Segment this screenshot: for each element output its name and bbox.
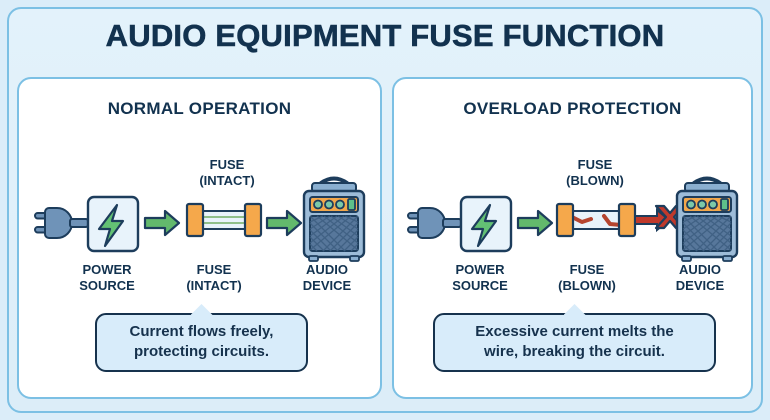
node-label-audio-device-overload: AUDIO DEVICE — [645, 262, 755, 294]
caption-line1: Excessive current melts the — [448, 322, 701, 342]
node-label-power-source-normal: POWER SOURCE — [52, 262, 162, 294]
node-label-line1: POWER — [425, 262, 535, 278]
current-arrow-1-normal — [145, 211, 179, 235]
current-arrow-1-overload — [518, 211, 552, 235]
panel-normal-operation: NORMAL OPERATION FUSE (INTACT) — [17, 77, 382, 399]
caption-line2: wire, breaking the circuit. — [448, 342, 701, 362]
panel-heading-overload: OVERLOAD PROTECTION — [394, 99, 751, 119]
caption-bubble-normal: Current flows freely, protecting circuit… — [95, 313, 308, 372]
fuse-top-caption-line1: FUSE — [167, 157, 287, 173]
node-label-line1: AUDIO — [645, 262, 755, 278]
node-label-audio-device-normal: AUDIO DEVICE — [272, 262, 382, 294]
panel-overload-protection: OVERLOAD PROTECTION FUSE (BLOWN) — [392, 77, 753, 399]
fuse-top-caption-normal: FUSE (INTACT) — [167, 157, 287, 189]
audio-amp-icon — [677, 179, 737, 262]
node-label-line1: FUSE — [532, 262, 642, 278]
audio-amp-icon — [304, 179, 364, 262]
node-label-fuse-overload: FUSE (BLOWN) — [532, 262, 642, 294]
node-label-power-source-overload: POWER SOURCE — [425, 262, 535, 294]
page-title: AUDIO EQUIPMENT FUSE FUNCTION — [0, 18, 770, 54]
power-plug-icon — [35, 208, 88, 238]
node-label-line2: SOURCE — [425, 278, 535, 294]
node-label-line1: AUDIO — [272, 262, 382, 278]
caption-bubble-overload: Excessive current melts the wire, breaki… — [433, 313, 716, 372]
panel-heading-normal: NORMAL OPERATION — [19, 99, 380, 119]
node-label-fuse-normal: FUSE (INTACT) — [159, 262, 269, 294]
fuse-top-caption-line1: FUSE — [535, 157, 655, 173]
caption-line1: Current flows freely, — [110, 322, 293, 342]
current-arrow-2-normal — [267, 211, 301, 235]
fuse-intact-icon — [187, 204, 261, 236]
fuse-blown-icon — [557, 204, 635, 236]
infographic-canvas: AUDIO EQUIPMENT FUSE FUNCTION NORMAL OPE… — [0, 0, 770, 420]
flow-diagram-normal — [29, 189, 379, 269]
node-label-line2: (BLOWN) — [532, 278, 642, 294]
node-label-line1: POWER — [52, 262, 162, 278]
bubble-tail — [564, 304, 586, 315]
flow-diagram-overload — [402, 189, 752, 269]
fuse-top-caption-line2: (BLOWN) — [535, 173, 655, 189]
node-label-line2: DEVICE — [645, 278, 755, 294]
bubble-tail — [191, 304, 213, 315]
fuse-top-caption-overload: FUSE (BLOWN) — [535, 157, 655, 189]
node-label-line2: DEVICE — [272, 278, 382, 294]
power-plug-icon — [408, 208, 461, 238]
power-source-box-normal — [88, 197, 138, 251]
node-label-line1: FUSE — [159, 262, 269, 278]
power-source-box-overload — [461, 197, 511, 251]
node-label-line2: (INTACT) — [159, 278, 269, 294]
node-label-line2: SOURCE — [52, 278, 162, 294]
fuse-top-caption-line2: (INTACT) — [167, 173, 287, 189]
caption-line2: protecting circuits. — [110, 342, 293, 362]
